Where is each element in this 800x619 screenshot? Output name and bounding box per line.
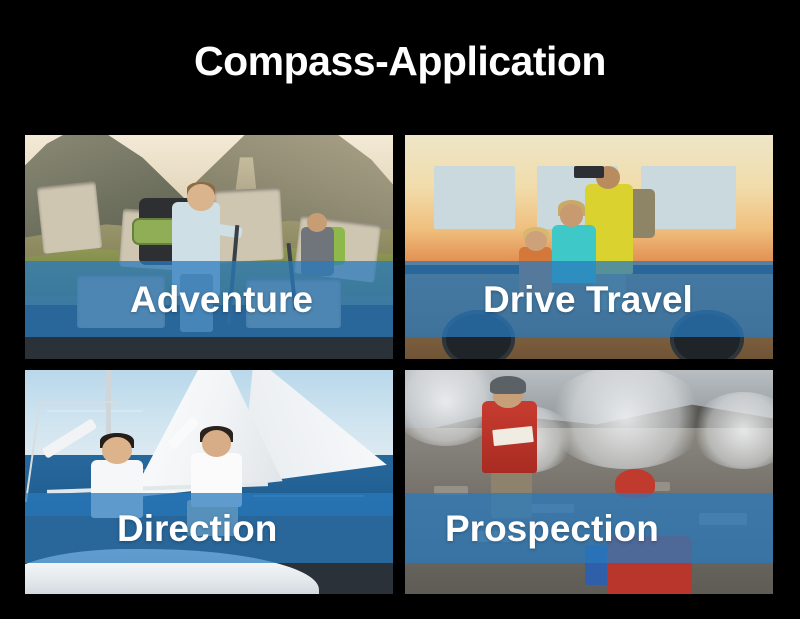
app-screen: Compass-Application [0, 0, 800, 619]
feature-card-adventure[interactable]: Adventure [25, 135, 393, 359]
feature-card-grid: Adventure [25, 135, 773, 594]
woman-head [560, 204, 584, 226]
drive-travel-label-band: Drive Travel [405, 261, 773, 337]
sailor-one-head [102, 437, 131, 464]
prospection-label: Prospection [445, 510, 659, 547]
page-title: Compass-Application [0, 38, 800, 84]
beanie-hat [490, 376, 527, 394]
binoculars-icon [574, 166, 603, 177]
direction-label-band: Direction [25, 493, 393, 563]
adventure-label-band: Adventure [25, 261, 393, 337]
feature-card-drive-travel[interactable]: Drive Travel [405, 135, 773, 359]
child-head [525, 231, 547, 251]
hiker-two-head [307, 213, 327, 232]
feature-card-prospection[interactable]: Prospection [405, 370, 773, 594]
direction-label: Direction [117, 510, 277, 547]
feature-card-direction[interactable]: Direction [25, 370, 393, 594]
hiker-one-head [187, 184, 215, 211]
drive-travel-label: Drive Travel [483, 281, 693, 318]
adventure-label: Adventure [130, 281, 313, 318]
prospection-label-band: Prospection [405, 493, 773, 563]
